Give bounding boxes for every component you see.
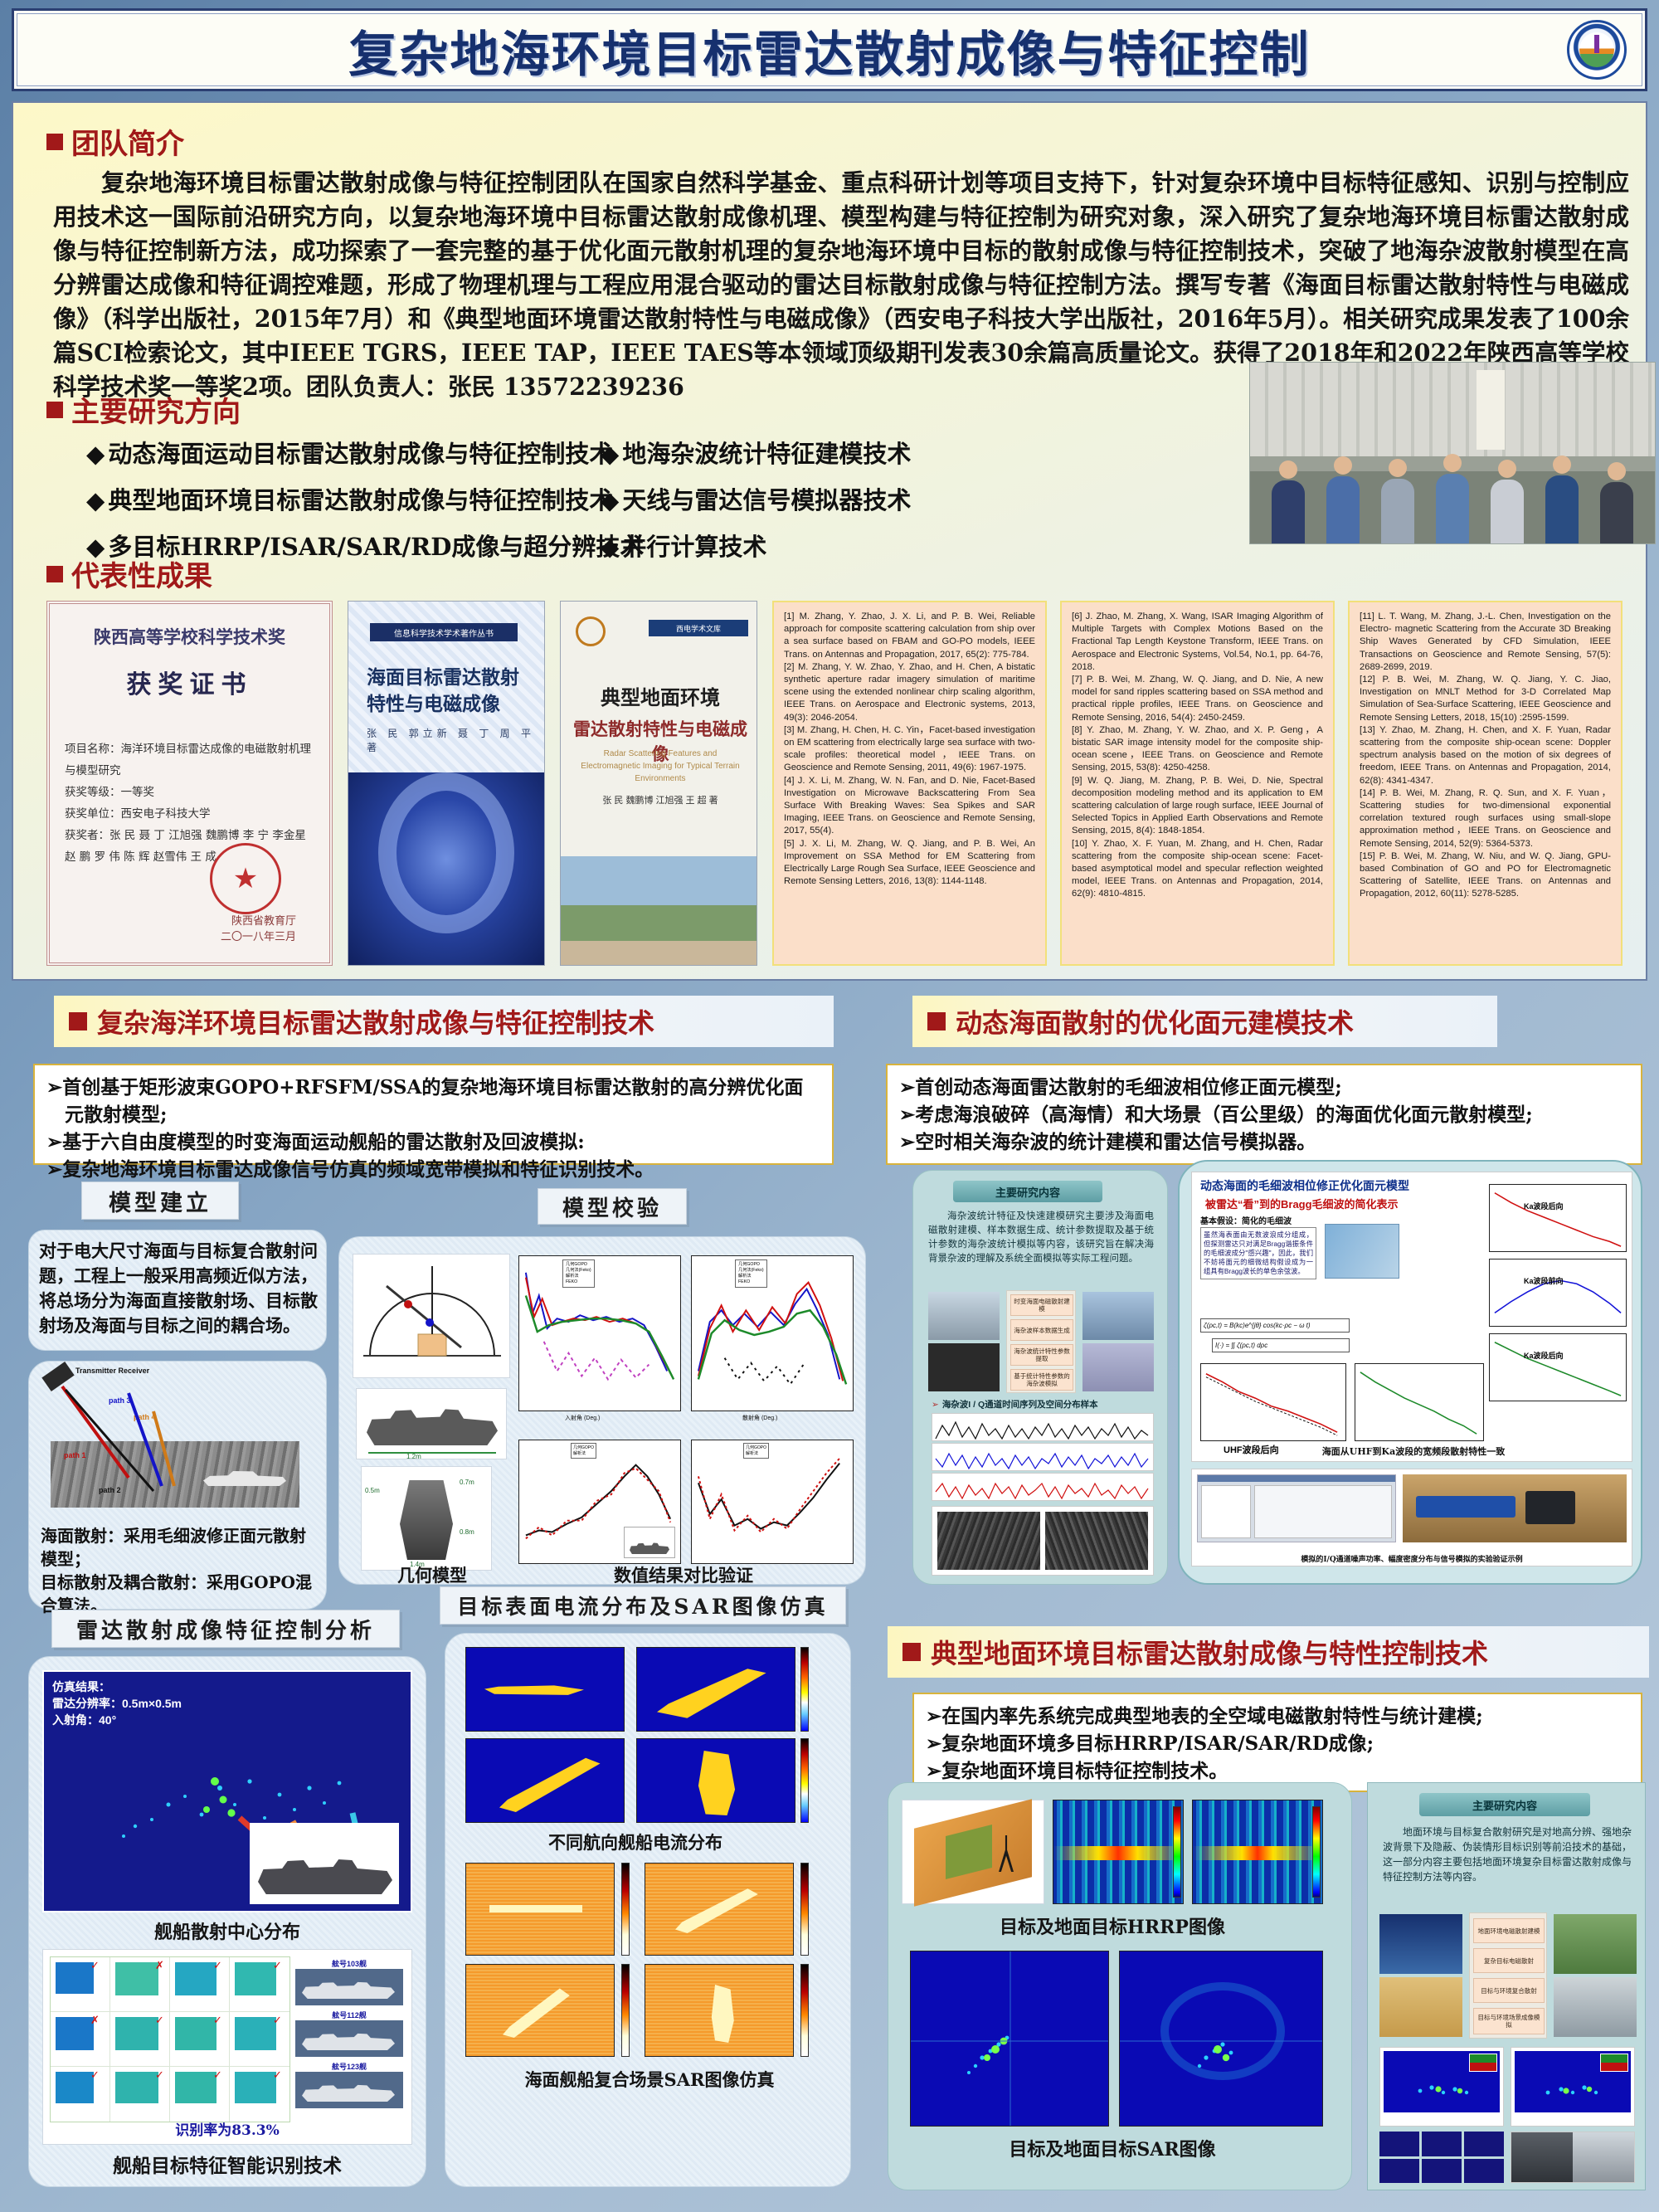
sar-image-3 <box>465 1964 615 2057</box>
ka-plot-label-3: Ka波段后向 <box>1524 1350 1564 1361</box>
result-mark: ✓ <box>155 2014 164 2027</box>
capillary-model-card: 动态海面的毛细波相位修正优化面元模型 被雷达“看”到的Bragg毛细波的简化表示… <box>1178 1160 1642 1585</box>
path4-label: path 4 <box>134 1413 156 1421</box>
assumption-label: 基本假设：简化的毛细波 <box>1200 1214 1292 1226</box>
ground-research-card: 主要研究内容 地面环境与目标复合散射研究是对地高分辨、强地杂波背景下及隐蔽、伪装… <box>1367 1782 1646 2190</box>
ground-heading-label: 典型地面环境目标雷达散射成像与特性控制技术 <box>931 1633 1488 1671</box>
isar-thumb <box>1422 2159 1462 2184</box>
achievements-row: 陕西高等学校科学技术奖 获奖证书 项目名称：海洋环境目标雷达成像的电磁散射机理与… <box>46 601 1623 966</box>
achievements-heading-label: 代表性成果 <box>71 553 212 594</box>
diamond-icon: ◆ <box>86 486 105 514</box>
flow-item: 基于统计特性参数的海杂波模拟 <box>1010 1369 1073 1391</box>
direction-item: ◆地海杂波统计特征建模技术 <box>601 435 999 470</box>
carrier-photo <box>1082 1292 1154 1340</box>
diamond-icon: ◆ <box>601 486 619 514</box>
dynamic-sea-heading-label: 动态海面散射的优化面元建模技术 <box>956 1002 1354 1040</box>
sar-image-4 <box>645 1964 794 2057</box>
rcs-plot-compare-1: 几何GOPO 解析法 <box>518 1440 681 1564</box>
direction-item: ◆并行计算技术 <box>601 528 999 563</box>
dimension-label: 0.7m <box>460 1479 474 1486</box>
ground-research-header: 主要研究内容 <box>1419 1793 1590 1816</box>
current-sar-card: 不同航向舰船电流分布 海面舰船复合场景SAR图像仿真 <box>445 1633 851 2187</box>
directions-heading-label: 主要研究方向 <box>71 389 241 430</box>
sar-caption: 目标及地面目标SAR图像 <box>902 2135 1323 2161</box>
terrain-3d-model <box>902 1800 1044 1904</box>
flow-item: 目标与环境场景成像模拟 <box>1473 2008 1545 2034</box>
book-title: 海面目标雷达散射特性与电磁成像 <box>367 665 533 718</box>
ground-flow-diagram: 地面环境电磁散射建模 复杂目标电磁散射 目标与环境复合散射 目标与环境场景成像模… <box>1469 1912 1547 2039</box>
ship-label: 舷号103舰 <box>295 1958 403 1969</box>
dimension-label: 1.2m <box>406 1453 421 1460</box>
flow-item: 海杂波统计特性参数提取 <box>1010 1344 1073 1366</box>
colorbar-6 <box>800 1964 809 2057</box>
flow-item: 复杂目标电磁散射 <box>1473 1948 1545 1973</box>
award-certificate-image: 陕西高等学校科学技术奖 获奖证书 项目名称：海洋环境目标雷达成像的电磁散射机理与… <box>46 601 333 966</box>
plot-legend: 几何GOPO 解析法 <box>571 1443 596 1459</box>
vehicle-photo-1 <box>1511 2132 1573 2182</box>
isar-thumb <box>1464 2159 1504 2184</box>
ground-section-banner: 典型地面环境目标雷达散射成像与特性控制技术 <box>888 1626 1649 1678</box>
hrrp-image-2 <box>1192 1800 1323 1904</box>
certificate-title: 获奖证书 <box>65 664 314 700</box>
grid-cell: ✓ <box>170 1957 230 2012</box>
ground-bullet-item: ➢在国内率先系统完成典型地表的全空域电磁散射特性与统计建模; <box>926 1703 1629 1730</box>
flow-item: 目标与环境复合散射 <box>1473 1978 1545 2003</box>
sar-image-ground-2 <box>1119 1951 1323 2127</box>
sea-surface-map-pair <box>932 1506 1154 1576</box>
satellite-earth-photo <box>1379 1914 1462 1974</box>
page-title: 复杂地海环境目标雷达散射成像与特征控制 <box>348 15 1310 85</box>
certificate-details: 项目名称：海洋环境目标雷达成像的电磁散射机理与模型研究 获奖等级：一等奖 获奖单… <box>65 738 314 868</box>
bullet-square-icon <box>902 1643 921 1661</box>
path2-label: path 2 <box>99 1486 121 1494</box>
iq-sample-caption: ➢海杂波I / Q通道时间序列及空间分布样本 <box>932 1398 1098 1411</box>
iq-timeseries-plot-blue <box>932 1443 1154 1471</box>
isar-thumb <box>1464 2132 1504 2156</box>
ground-bullets-box: ➢在国内率先系统完成典型地表的全空域电磁散射特性与统计建模; ➢复杂地面环境多目… <box>912 1693 1642 1792</box>
plot-x-axis-label: 散射角 (Deg.) <box>742 1414 777 1422</box>
ground-bullet-item: ➢复杂地面环境目标特征控制技术。 <box>926 1757 1629 1785</box>
reference-list-column-3: [11] L. T. Wang, M. Zhang, J.-L. Chen, I… <box>1348 601 1623 966</box>
result-mark: ✓ <box>90 2068 100 2082</box>
ground-sar-result-2 <box>1511 2047 1635 2127</box>
desert-vehicle-photo <box>1379 1977 1462 2037</box>
result-mark: ✓ <box>213 1959 222 1972</box>
uhf-ka-caption: 海面从UHF到Ka波段的宽频段散射特性一致 <box>1200 1445 1627 1458</box>
isar-thumb <box>1379 2132 1419 2156</box>
achievements-section-heading: 代表性成果 <box>46 553 212 594</box>
isar-thumb <box>1379 2159 1419 2184</box>
sea-clutter-text: 海杂波统计特征及快速建模研究主要涉及海面电磁散射建模、样本数据生成、统计参数提取… <box>928 1209 1154 1265</box>
isar-thumb <box>1422 2132 1462 2156</box>
colorbar-3 <box>621 1863 630 1956</box>
path1-label: path 1 <box>64 1451 86 1459</box>
dynamic-sea-bullet-item: ➢首创动态海面雷达散射的毛细波相位修正面元模型; <box>899 1074 1629 1101</box>
geometry-model-caption: 几何模型 <box>366 1562 499 1587</box>
assumption-text: 虽然海表面由无数波浪成分组成，但探测雷达只对满足Bragg谐振条件的毛细波成分"… <box>1200 1227 1316 1279</box>
simulator-photo-panel: 模拟的I/Q通道噪声功率、幅度密度分布与信号模拟的实验验证示例 <box>1191 1469 1632 1566</box>
recognition-rate-label: 识别率为83.3% <box>43 2118 411 2139</box>
model-build-note: 海面散射：采用毛细波修正面元散射模型； 目标散射及耦合散射：采用GOPO混合算法… <box>41 1524 316 1617</box>
current-distribution-plot-4 <box>636 1738 795 1823</box>
result-mark: ✗ <box>155 1959 164 1972</box>
book-cover-terrain: 西电学术文库 典型地面环境 雷达散射特性与电磁成像 Radar Scatteri… <box>560 601 757 966</box>
sar-simulation-caption: 海面舰船复合场景SAR图像仿真 <box>459 2067 840 2092</box>
flow-item: 地面环境电磁散射建模 <box>1473 1918 1545 1943</box>
current-distribution-plot-3 <box>465 1738 625 1823</box>
grid-cell: ✓ <box>110 2012 170 2067</box>
hrrp-caption: 目标及地面目标HRRP图像 <box>902 1912 1323 1939</box>
sar-image-ground-1 <box>910 1951 1109 2127</box>
team-heading-label: 团队简介 <box>71 121 184 162</box>
aircraft-field-photo <box>1554 1914 1637 1974</box>
transmitter-receiver-label: Transmitter Receiver <box>75 1367 149 1375</box>
diamond-icon: ◆ <box>601 440 619 468</box>
ship-label: 舷号112舰 <box>295 2010 403 2020</box>
ground-imaging-card: 目标及地面目标HRRP图像 <box>888 1782 1352 2190</box>
current-distribution-plot-1 <box>465 1647 625 1732</box>
result-mark: ✓ <box>273 2068 282 2082</box>
direction-item: ◆天线与雷达信号模拟器技术 <box>601 481 999 516</box>
sar-image-1 <box>465 1863 615 1956</box>
sar-thumbnail-grid: ✓ ✗ ✓ ✓ ✗ ✓ ✓ ✓ ✓ ✓ ✓ ✓ <box>50 1956 290 2122</box>
reference-list-column-2: [6] J. Zhao, M. Zhang, X. Wang, ISAR Ima… <box>1060 601 1335 966</box>
book-title: 典型地面环境 <box>577 681 743 710</box>
ship-reference-list: 舷号103舰 舷号112舰 舷号123舰 <box>295 1958 403 2108</box>
flow-diagram: 时变海面电磁散射建模 海杂波样本数据生成 海杂波统计特性参数提取 基于统计特性参… <box>1006 1290 1076 1393</box>
seal-text: 陕西省教育厅 二〇一八年三月 <box>221 913 296 944</box>
model-build-text-card: 对于电大尺寸海面与目标复合散射问题，工程上一般采用高频近似方法，将总场分为海面直… <box>28 1230 327 1351</box>
dynamic-sea-bullets-box: ➢首创动态海面雷达散射的毛细波相位修正面元模型; ➢考虑海浪破碎（高海情）和大场… <box>886 1064 1642 1165</box>
diamond-icon: ◆ <box>86 440 105 468</box>
inset-ship-diagram <box>624 1527 675 1558</box>
grid-cell: ✓ <box>170 2012 230 2067</box>
bullet-square-icon <box>69 1012 87 1030</box>
colorbar-2 <box>800 1738 809 1823</box>
official-seal-icon: ★ <box>210 843 281 914</box>
model-build-title: 模型建立 <box>81 1182 239 1220</box>
result-mark: ✓ <box>273 2014 282 2027</box>
result-mark: ✓ <box>213 2068 222 2082</box>
current-sar-title: 目标表面电流分布及SAR图像仿真 <box>440 1586 846 1625</box>
marine-bullet-item: ➢复杂地海环境目标雷达成像信号仿真的频域宽带模拟和特征识别技术。 <box>46 1156 820 1183</box>
software-screenshot <box>1197 1474 1396 1542</box>
result-mark: ✓ <box>213 2014 222 2027</box>
flow-item: 时变海面电磁散射建模 <box>1010 1294 1073 1316</box>
direction-item: ◆动态海面运动目标雷达散射成像与特征控制技术 <box>86 435 601 470</box>
plot-legend: 几何GOPO 几何法(Fekо) 解析法 FEKO <box>735 1259 767 1288</box>
marine-bullet-item: ➢基于六自由度模型的时变海面运动舰船的雷达散射及回波模拟: <box>46 1128 820 1156</box>
arrow-icon: ➢ <box>932 1400 939 1410</box>
ka-plot-label-2: Ka波段前向 <box>1524 1275 1564 1286</box>
current-distribution-caption: 不同航向舰船电流分布 <box>465 1830 805 1854</box>
current-distribution-plot-2 <box>636 1647 795 1732</box>
colorbar-4 <box>800 1863 809 1956</box>
model-build-text: 对于电大尺寸海面与目标复合散射问题，工程上一般采用高频近似方法，将总场分为海面直… <box>39 1239 318 1338</box>
ku-backscatter-plot <box>1355 1363 1484 1441</box>
result-mark: ✓ <box>155 2068 164 2082</box>
bullet-square-icon <box>46 402 63 418</box>
certificate-award-name: 陕西高等学校科学技术奖 <box>65 624 314 649</box>
result-mark: ✗ <box>90 2014 100 2027</box>
team-section-heading: 团队简介 <box>46 121 184 162</box>
capillary-model-panel: 动态海面的毛细波相位修正优化面元模型 被雷达“看”到的Bragg毛细波的简化表示… <box>1191 1172 1632 1462</box>
ship-label: 舷号123舰 <box>295 2061 403 2072</box>
rcs-plot-scatter-angle: 几何GOPO 几何法(Fekо) 解析法 FEKO <box>691 1255 854 1411</box>
book-series-label: 信息科学技术学术著作丛书 <box>370 623 518 641</box>
ka-backscatter-plot-2 <box>1489 1333 1627 1401</box>
intelligent-recognition-caption: 舰船目标特征智能识别技术 <box>42 2150 412 2178</box>
grid-cell: ✗ <box>51 2012 110 2067</box>
sea-surface-map-1 <box>937 1512 1040 1570</box>
bragg-red-line: 被雷达“看”到的Bragg毛细波的简化表示 <box>1205 1196 1399 1211</box>
model-verify-card: 1.2m 0.7m 0.8m 0.5m 1.4m 几何GOPO 几何法(Fekо… <box>338 1236 866 1585</box>
result-mark: ✓ <box>273 1959 282 1972</box>
direction-item: ◆典型地面环境目标雷达散射成像与特征控制技术 <box>86 481 601 516</box>
model-build-diagram-card: Transmitter Receiver path 3 path 4 path … <box>28 1361 327 1610</box>
references-columns: [1] M. Zhang, Y. Zhao, J. X. Li, and P. … <box>772 601 1623 966</box>
aircraft-photo <box>1082 1343 1154 1391</box>
sea-surface-map-2 <box>1045 1512 1148 1570</box>
rcs-plot-incidence: 几何GOPO 几何法(Fekо) 解析法 FEKO <box>518 1255 681 1411</box>
grid-cell: ✓ <box>51 1957 110 2012</box>
path3-label: path 3 <box>109 1396 131 1405</box>
result-mark: ✓ <box>90 1959 100 1972</box>
colorbar-5 <box>621 1964 630 2057</box>
marine-bullet-item: ➢首创基于矩形波束GOPO+RFSFM/SSA的复杂地海环境目标雷达散射的高分辨… <box>46 1074 820 1128</box>
numeric-compare-caption: 数值结果对比验证 <box>547 1562 820 1587</box>
recognition-grid-card: ✓ ✗ ✓ ✓ ✗ ✓ ✓ ✓ ✓ ✓ ✓ ✓ 舷号103舰 舷号112舰 舷号… <box>42 1949 412 2145</box>
sea-surface-strip <box>51 1441 299 1508</box>
grid-cell: ✓ <box>230 1957 289 2012</box>
inset-ship-photo <box>250 1823 399 1904</box>
grid-cell: ✓ <box>51 2067 110 2122</box>
capillary-model-title: 动态海面的毛细波相位修正优化面元模型 <box>1200 1177 1409 1194</box>
dynamic-sea-bullet-item: ➢空时相关海杂波的统计建模和雷达信号模拟器。 <box>899 1128 1629 1156</box>
formula-2: I(·) = ∫∫ ζ(ρc,t) dρc <box>1212 1338 1350 1352</box>
colorbar-1 <box>800 1647 809 1732</box>
uhf-backscatter-plot <box>1200 1363 1346 1441</box>
scattering-center-caption: 舰船散射中心分布 <box>42 1917 412 1944</box>
ka-backscatter-plot-1 <box>1489 1184 1627 1252</box>
vehicle-photo-2 <box>1573 2132 1634 2182</box>
dimension-label: 0.8m <box>460 1528 474 1536</box>
sar-ship-photo <box>928 1343 1000 1391</box>
grid-cell: ✓ <box>230 2067 289 2122</box>
hrrp-image-1 <box>1053 1800 1184 1904</box>
dimension-label: 0.5m <box>365 1487 380 1494</box>
model-verify-title: 模型校验 <box>538 1188 687 1225</box>
grid-cell: ✓ <box>170 2067 230 2122</box>
book-cover-sea-target: 信息科学技术学术著作丛书 海面目标雷达散射特性与电磁成像 张 民 郭立新 聂 丁… <box>348 601 545 966</box>
formula-1: ζ(ρc,t) = B(kc)e^{jθ} cos(kc·ρc − ω t) <box>1200 1318 1350 1333</box>
grid-cell: ✓ <box>230 2012 289 2067</box>
book-authors: 张 民 郭立新 聂 丁 周 平 著 <box>367 726 544 754</box>
sea-clutter-research-card: 主要研究内容 海杂波统计特征及快速建模研究主要涉及海面电磁散射建模、样本数据生成… <box>912 1170 1168 1585</box>
scattering-center-image: 仿真结果： 雷达分辨率：0.5m×0.5m 入射角：40° <box>42 1670 412 1912</box>
plot-x-axis-label: 入射角 (Deg.) <box>565 1414 600 1422</box>
book-english-title: Radar Scattering Features and Electromag… <box>577 748 743 785</box>
hardware-photo <box>1403 1474 1627 1542</box>
sar-image-2 <box>645 1863 794 1956</box>
ship-front-view: 0.7m 0.8m 0.5m 1.4m <box>361 1466 492 1571</box>
ship-side-view: 1.2m <box>356 1388 507 1459</box>
marine-heading-label: 复杂海洋环境目标雷达散射成像与特征控制技术 <box>97 1002 654 1040</box>
book-badge-right: 西电学术文库 <box>649 620 748 636</box>
directions-section-heading: 主要研究方向 <box>46 389 241 430</box>
grid-cell: ✓ <box>110 2067 170 2122</box>
ka-forward-plot <box>1489 1259 1627 1327</box>
ka-plot-label-1: Ka波段后向 <box>1524 1201 1564 1211</box>
flow-item: 海杂波样本数据生成 <box>1010 1319 1073 1341</box>
plot-legend: 几何GOPO 几何法(Fekо) 解析法 FEKO <box>562 1259 595 1288</box>
bullet-square-icon <box>46 566 63 582</box>
reference-list-column-1: [1] M. Zhang, Y. Zhao, J. X. Li, and P. … <box>772 601 1047 966</box>
rcs-plot-compare-2: 几何GOPO 解析法 <box>691 1440 854 1564</box>
dynamic-sea-bullet-item: ➢考虑海浪破碎（高海情）和大场景（百公里级）的海面优化面元散射模型; <box>899 1101 1629 1128</box>
book-authors: 张 民 魏鹏博 江旭强 王 超 著 <box>577 794 743 808</box>
ground-research-text: 地面环境与目标复合散射研究是对地高分辨、强地杂波背景下及隐蔽、伪装情形目标识别等… <box>1383 1825 1632 1884</box>
university-emblem-icon <box>1567 20 1627 80</box>
simulator-caption: 模拟的I/Q通道噪声功率、幅度密度分布与信号模拟的实验验证示例 <box>1192 1553 1632 1564</box>
bullet-square-icon <box>927 1012 946 1030</box>
ground-bullet-item: ➢复杂地面环境多目标HRRP/ISAR/SAR/RD成像; <box>926 1730 1629 1757</box>
facet-illustration <box>1325 1224 1399 1279</box>
missile-vehicle-photo <box>1554 1977 1637 2037</box>
isar-thumbnail-grid <box>1379 2132 1504 2183</box>
ground-sar-result-1 <box>1379 2047 1504 2127</box>
funding-badge-icon <box>576 616 606 646</box>
radar-dish-photo <box>928 1292 1000 1340</box>
iq-timeseries-plot-black <box>932 1413 1154 1441</box>
research-content-header: 主要研究内容 <box>953 1181 1102 1202</box>
poster-title-bar: 复杂地海环境目标雷达散射成像与特征控制 <box>12 8 1647 91</box>
dynamic-sea-banner: 动态海面散射的优化面元建模技术 <box>912 996 1497 1047</box>
diamond-icon: ◆ <box>601 533 619 561</box>
control-analysis-card: 仿真结果： 雷达分辨率：0.5m×0.5m 入射角：40° <box>28 1656 426 2187</box>
bullet-square-icon <box>46 134 63 150</box>
marine-bullets-box: ➢首创基于矩形波束GOPO+RFSFM/SSA的复杂地海环境目标雷达散射的高分辨… <box>33 1064 834 1165</box>
plot-legend: 几何GOPO 解析法 <box>743 1443 769 1459</box>
vehicle-photos <box>1511 2132 1635 2183</box>
marine-section-banner: 复杂海洋环境目标雷达散射成像与特征控制技术 <box>54 996 834 1047</box>
grid-cell: ✗ <box>110 1957 170 2012</box>
research-directions-list: ◆动态海面运动目标雷达散射成像与特征控制技术 ◆地海杂波统计特征建模技术 ◆典型… <box>86 435 1331 563</box>
control-analysis-title: 雷达散射成像特征控制分析 <box>51 1610 400 1648</box>
poster-root: 复杂地海环境目标雷达散射成像与特征控制 团队简介 复杂地海环境目标雷达散射成像与… <box>0 0 1659 2212</box>
geometry-sphere-diagram <box>353 1254 510 1378</box>
top-info-panel: 团队简介 复杂地海环境目标雷达散射成像与特征控制团队在国家自然科学基金、重点科研… <box>12 101 1647 981</box>
satellite-icon <box>41 1362 74 1391</box>
iq-timeseries-plot-red <box>932 1473 1154 1501</box>
